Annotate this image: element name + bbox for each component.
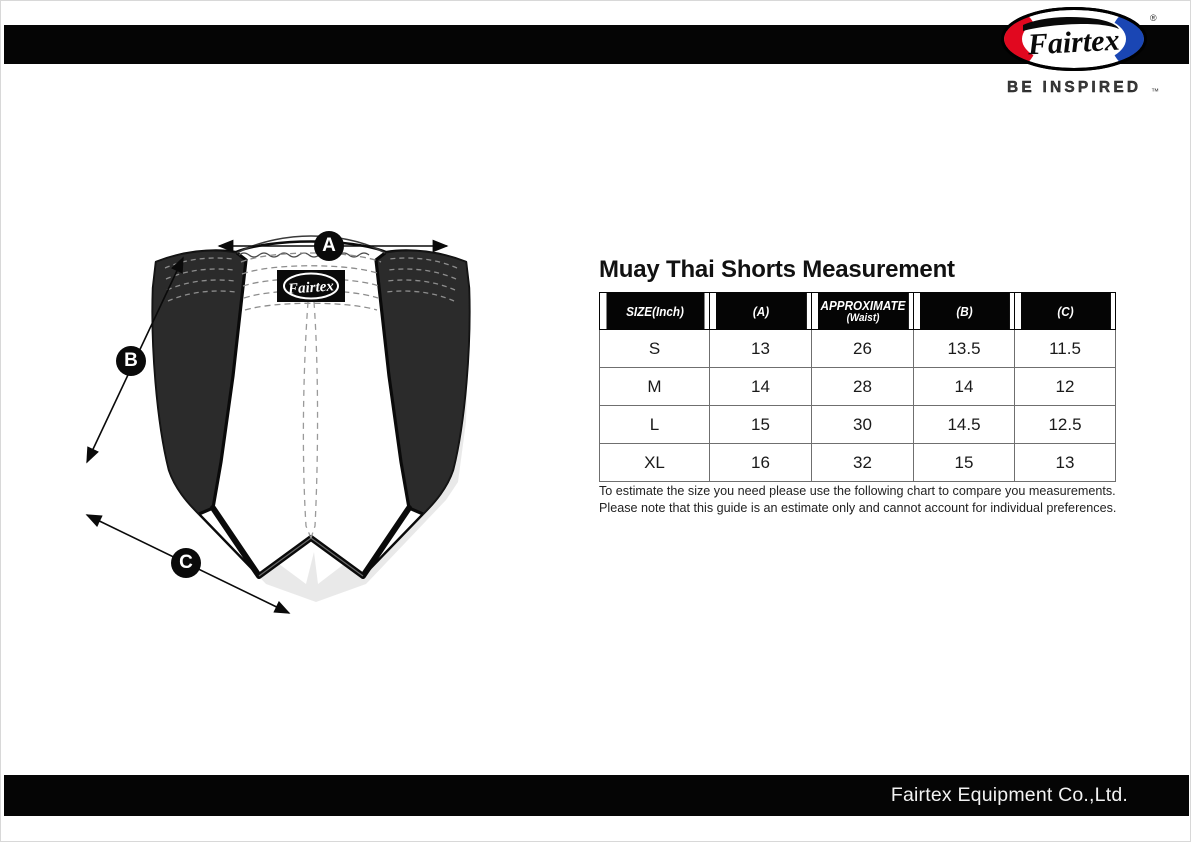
- svg-text:Fairtex: Fairtex: [1026, 24, 1120, 62]
- trademark-icon: ™: [1151, 87, 1159, 96]
- svg-text:Fairtex: Fairtex: [287, 278, 335, 297]
- cell-b: 14.5: [914, 406, 1015, 444]
- cell-a: 14: [710, 368, 812, 406]
- cell-size: S: [600, 330, 710, 368]
- cell-waist: 30: [812, 406, 914, 444]
- cell-waist: 26: [812, 330, 914, 368]
- cell-size: XL: [600, 444, 710, 482]
- footer-company-name: Fairtex Equipment Co.,Ltd.: [891, 784, 1128, 807]
- measurement-marker-a: A: [314, 231, 344, 261]
- cell-b: 13.5: [914, 330, 1015, 368]
- table-note-line-2: Please note that this guide is an estima…: [599, 500, 1129, 517]
- cell-a: 15: [710, 406, 812, 444]
- cell-c: 13: [1015, 444, 1116, 482]
- cell-size: L: [600, 406, 710, 444]
- cell-size: M: [600, 368, 710, 406]
- measurement-marker-c: C: [171, 548, 201, 578]
- page-title: Muay Thai Shorts Measurement: [599, 256, 955, 284]
- cell-waist: 28: [812, 368, 914, 406]
- column-header-a: (A): [715, 293, 807, 330]
- cell-c: 12.5: [1015, 406, 1116, 444]
- cell-waist: 32: [812, 444, 914, 482]
- cell-c: 11.5: [1015, 330, 1116, 368]
- table-row: S 13 26 13.5 11.5: [600, 330, 1116, 368]
- column-header-size: SIZE(Inch): [605, 293, 704, 330]
- fairtex-brand-logo: Fairtex ® BE INSPIRED ™: [1001, 7, 1169, 107]
- shorts-illustration: Fairtex: [61, 226, 561, 636]
- measurement-marker-b: B: [116, 346, 146, 376]
- cell-c: 12: [1015, 368, 1116, 406]
- cell-b: 14: [914, 368, 1015, 406]
- cell-a: 16: [710, 444, 812, 482]
- table-note: To estimate the size you need please use…: [599, 483, 1129, 517]
- column-header-approximate-waist: APPROXIMATE (Waist): [817, 293, 909, 330]
- waistband-logo-patch: Fairtex: [277, 270, 345, 302]
- column-header-c: (C): [1020, 293, 1111, 330]
- column-header-b: (B): [919, 293, 1010, 330]
- size-guide-page: Fairtex ® BE INSPIRED ™: [0, 0, 1191, 842]
- brand-tagline: BE INSPIRED: [1007, 79, 1141, 97]
- table-row: L 15 30 14.5 12.5: [600, 406, 1116, 444]
- size-measurement-table: SIZE(Inch) (A) APPROXIMATE (Waist) (B) (…: [599, 292, 1116, 482]
- cell-a: 13: [710, 330, 812, 368]
- cell-b: 15: [914, 444, 1015, 482]
- table-note-line-1: To estimate the size you need please use…: [599, 483, 1129, 500]
- table-header-row: SIZE(Inch) (A) APPROXIMATE (Waist) (B) (…: [600, 293, 1116, 330]
- table-row: M 14 28 14 12: [600, 368, 1116, 406]
- fairtex-logo-oval-icon: Fairtex: [1001, 7, 1147, 71]
- registered-trademark-icon: ®: [1150, 13, 1157, 23]
- table-row: XL 16 32 15 13: [600, 444, 1116, 482]
